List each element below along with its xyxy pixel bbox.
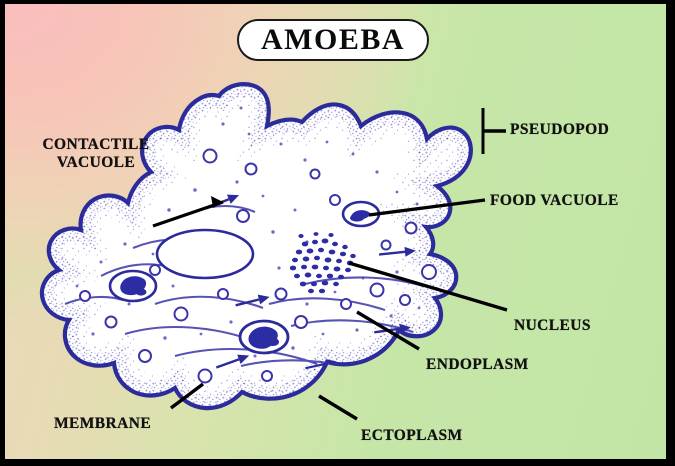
figure-canvas: AMOEBA CONTACTILE VACUOLE PSEUDOPOD FOOD… [0,0,675,466]
amoeba-cell [42,84,471,408]
label-contactile-vacuole: CONTACTILE VACUOLE [23,136,169,173]
diagram-frame: AMOEBA CONTACTILE VACUOLE PSEUDOPOD FOOD… [5,4,666,459]
pseudopod-leader [483,108,506,154]
label-nucleus: NUCLEUS [514,317,591,335]
label-membrane: MEMBRANE [54,415,151,433]
food-vacuole-lower [240,321,288,353]
contractile-vacuole [157,230,253,278]
figure-title-badge: AMOEBA [237,19,429,61]
amoeba-illustration [5,4,666,459]
food-vacuole-left [110,271,156,301]
label-ectoplasm: ECTOPLASM [361,427,463,445]
label-food-vacuole: FOOD VACUOLE [490,192,619,210]
ectoplasm-leader [319,396,357,419]
page-title: AMOEBA [261,23,405,57]
label-endoplasm: ENDOPLASM [426,356,529,374]
label-pseudopod: PSEUDOPOD [510,121,609,139]
